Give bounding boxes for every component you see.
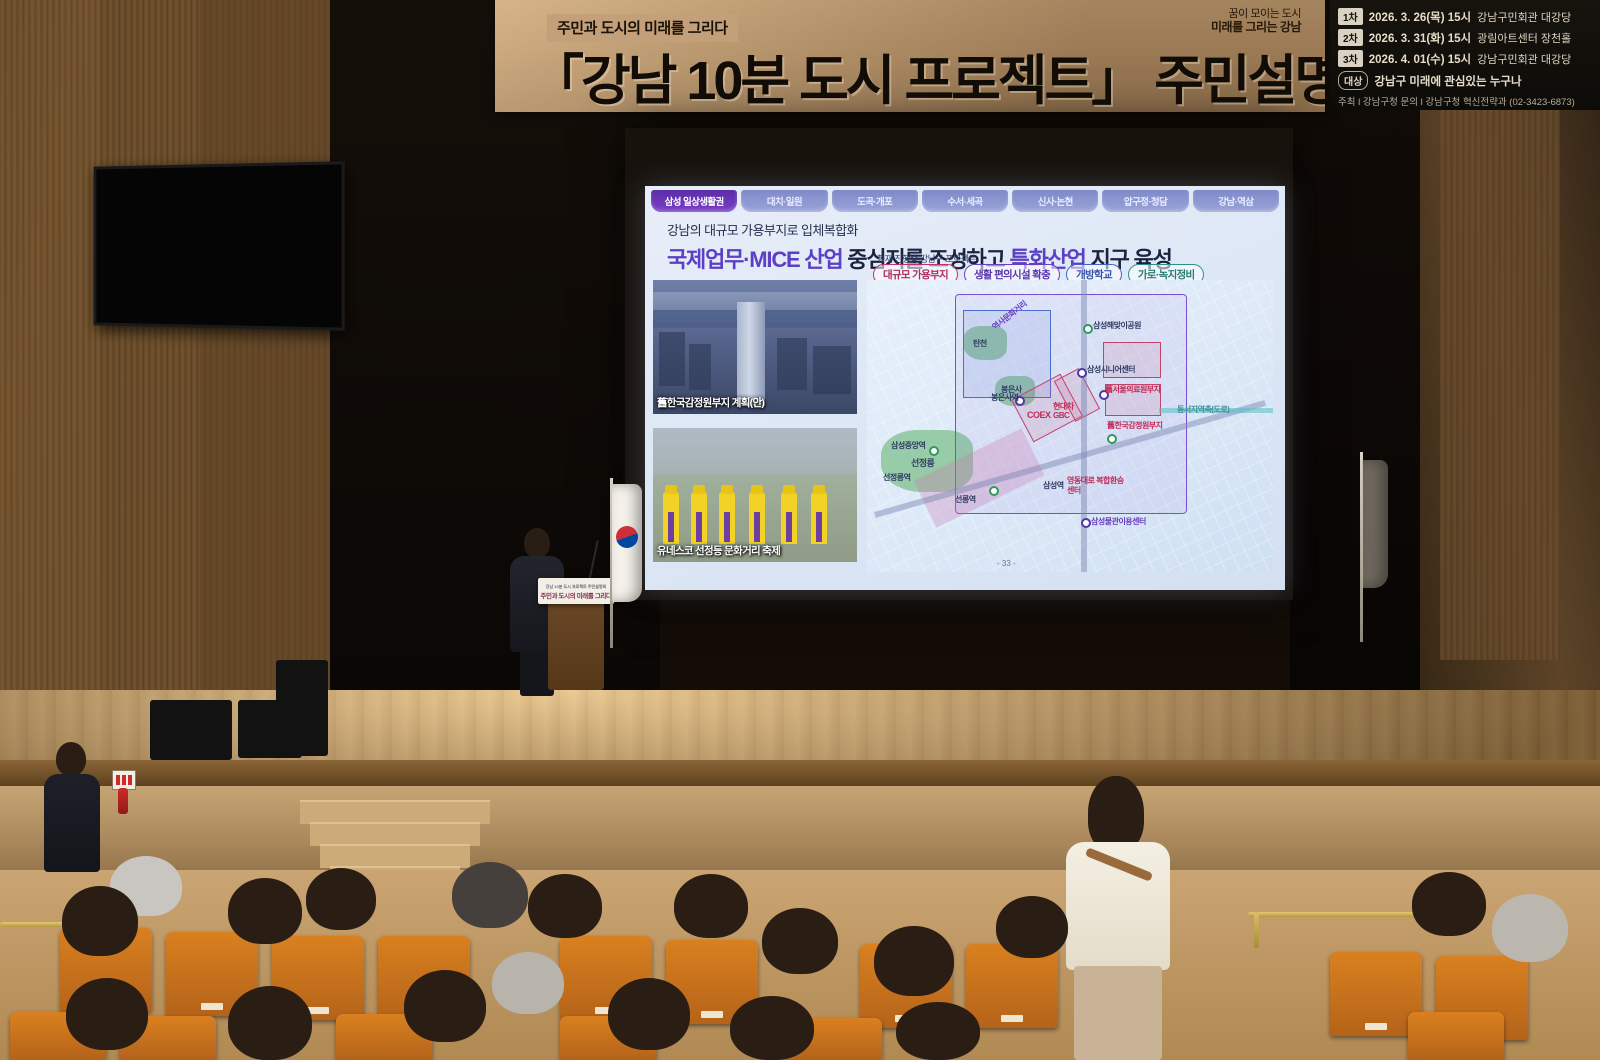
photo-culture-street-festival: 유네스코 선정등 문화거리 축제 — [653, 428, 857, 562]
banner-title: 「강남 10분 도시 프로젝트」 주민설명회 — [530, 36, 1325, 112]
map-label-medical-center-site: 舊서울의료원부지 — [1105, 384, 1161, 395]
audience-head — [1412, 872, 1486, 936]
slide-kicker: 강남의 대규모 가용부지로 입체복합화 — [667, 220, 1285, 239]
flag-cloth — [1362, 460, 1388, 588]
map-label-seolleung-station: 선릉역 — [955, 494, 976, 505]
map-label-gbc: 현대차 GBC — [1053, 402, 1079, 420]
audience-row: 대상 강남구 미래에 관심있는 누구나 — [1338, 71, 1600, 90]
logo-line-2: 미래를 그리는 강남 — [1211, 21, 1301, 35]
schedule-tag: 1차 — [1338, 8, 1363, 25]
seat-number-tag — [1365, 1023, 1387, 1030]
schedule-date: 2026. 3. 26(목) 15시 — [1369, 9, 1471, 25]
photo-caption: 유네스코 선정등 문화거리 축제 — [657, 543, 780, 558]
head — [56, 742, 86, 776]
seat-number-tag — [701, 1011, 723, 1018]
tab-suseo-segok[interactable]: 수서·세곡 — [922, 190, 1008, 212]
map-dot — [989, 486, 999, 496]
map-dot — [1077, 368, 1087, 378]
stage-speaker — [276, 660, 328, 756]
audience-head — [404, 970, 486, 1042]
audience-head — [228, 986, 312, 1060]
audience-head — [996, 896, 1068, 958]
slide-tab-bar: 삼성 일상생활권 대치·일원 도곡·개포 수서·세곡 신사·논현 압구정·청담 … — [645, 186, 1285, 212]
flag-cloth — [612, 484, 642, 602]
head — [1088, 776, 1144, 852]
map-label-yeongdong-hub: 영동대로 복합환승센터 — [1067, 476, 1125, 495]
schedule-place: 강남구민회관 대강당 — [1477, 51, 1571, 67]
standing-staff-member — [44, 742, 100, 872]
map-dot — [929, 446, 939, 456]
seat-number-tag — [1001, 1015, 1023, 1022]
audience-head — [674, 874, 748, 938]
schedule-row: 1차 2026. 3. 26(목) 15시 강남구민회관 대강당 — [1338, 8, 1600, 25]
photo-hanguk-appraisal-site: 舊한국감정원부지 계획(안) — [653, 280, 857, 414]
audience-head — [730, 996, 814, 1060]
audience-head — [492, 952, 564, 1014]
tab-apgujeong-cheongdam[interactable]: 압구정·청담 — [1102, 190, 1188, 212]
map-label-haematjip-park: 삼성해맞이공원 — [1093, 320, 1141, 331]
district-flag — [1346, 452, 1386, 642]
map-label-tancheon: 탄천 — [973, 338, 987, 349]
schedule-place: 광림아트센터 장천홀 — [1477, 30, 1571, 46]
city-block — [777, 338, 807, 390]
audience-tag: 대상 — [1338, 71, 1368, 90]
audience-head — [62, 886, 138, 956]
fire-extinguisher — [118, 788, 128, 814]
map-label-coex: COEX — [1027, 410, 1051, 420]
map-dot — [1083, 324, 1093, 334]
schedule-row: 3차 2026. 4. 01(수) 15시 강남구민회관 대강당 — [1338, 50, 1600, 67]
parade-figure — [749, 492, 765, 544]
step — [300, 800, 490, 824]
seat-number-tag — [201, 1003, 223, 1010]
map-dot — [1107, 434, 1117, 444]
map-label-samsung-jungang-station: 삼성중앙역 — [891, 440, 925, 451]
audience-head — [1492, 894, 1568, 962]
fire-equipment-sign — [112, 770, 136, 790]
korean-flag — [596, 478, 636, 648]
schedule-row: 2차 2026. 3. 31(화) 15시 광림아트센터 장천홀 — [1338, 29, 1600, 46]
stage-light-unit — [150, 700, 232, 760]
schedule-footer: 주최 l 강남구청 문의 l 강남구청 혁신전략과 (02-3423-6873) — [1338, 94, 1600, 108]
map-label-samsung-station: 삼성역 — [1043, 480, 1064, 491]
torso — [44, 774, 100, 872]
parade-figure — [663, 492, 679, 544]
parade-figure — [811, 492, 827, 544]
slide-title-highlight-1: 국제업무·MICE 산업 — [667, 247, 842, 272]
step — [310, 822, 480, 846]
audience-head — [528, 874, 602, 938]
schedule-date: 2026. 4. 01(수) 15시 — [1369, 51, 1471, 67]
audience-head — [874, 926, 954, 996]
photo-caption: 舊한국감정원부지 계획(안) — [657, 395, 764, 410]
map-label-bongeunsa-station: 봉은사역 — [991, 392, 1018, 403]
tab-sinsa-nonhyeon[interactable]: 신사·논현 — [1012, 190, 1098, 212]
audience-head — [762, 908, 838, 974]
audience-head — [452, 862, 528, 928]
map-label-samsung-center: 삼성물관이용센터 — [1091, 516, 1146, 527]
slide-page-number: - 33 - — [997, 559, 1016, 568]
tab-samsung[interactable]: 삼성 일상생활권 — [651, 190, 737, 212]
schedule-tag: 2차 — [1338, 29, 1363, 46]
handrail-post — [1254, 912, 1259, 948]
stage-edge — [0, 760, 1600, 786]
audience-head — [896, 1002, 980, 1060]
tower-rendering — [737, 302, 765, 406]
audience-head — [66, 978, 148, 1050]
tab-gangnam-yeoksam[interactable]: 강남·역삼 — [1193, 190, 1279, 212]
gangnam-district-map: 삼성해맞이공원 삼성시니어센터 舊서울의료원부지 舊한국감정원부지 영동대로 복… — [867, 280, 1273, 572]
parade-figure — [781, 492, 797, 544]
map-dot — [1081, 518, 1091, 528]
tab-daechi-ilwon[interactable]: 대치·일원 — [741, 190, 827, 212]
map-label-seonjeongneung: 선정릉 — [911, 456, 934, 469]
tab-dogok-gaepo[interactable]: 도곡·개포 — [832, 190, 918, 212]
map-label-seonjeongneung-station: 선정릉역 — [883, 472, 910, 483]
standing-attendee — [1060, 776, 1172, 1060]
auditorium-photo: 주민과 도시의 미래를 그리다 「강남 10분 도시 프로젝트」 주민설명회 꿈… — [0, 0, 1600, 1060]
audience-text: 강남구 미래에 관심있는 누구나 — [1374, 73, 1521, 89]
presenter-head — [524, 528, 550, 558]
schedule-place: 강남구민회관 대강당 — [1477, 9, 1571, 25]
slide-body: 舊한국감정원부지 계획(안) 유네스코 선정등 문화거리 축제 현재 진행중 강… — [645, 280, 1285, 572]
logo-line-1: 꿈이 모이는 도시 — [1211, 8, 1301, 21]
audience-head — [608, 978, 690, 1050]
audience-head — [306, 868, 376, 930]
stage-apron — [0, 786, 1600, 882]
right-wood-paneling — [1440, 100, 1560, 660]
schedule-tag: 3차 — [1338, 50, 1363, 67]
city-block — [659, 332, 685, 386]
schedule-date: 2026. 3. 31(화) 15시 — [1369, 30, 1471, 46]
gangnam-logo: 꿈이 모이는 도시 미래를 그리는 강남 — [1211, 8, 1301, 34]
map-label-east-west-axis: 동서지역축(도로) — [1177, 404, 1229, 415]
city-block — [813, 346, 851, 394]
map-label-appraisal-board-site: 舊한국감정원부지 — [1107, 420, 1163, 431]
schedule-panel: 1차 2026. 3. 26(목) 15시 강남구민회관 대강당 2차 2026… — [1330, 0, 1600, 110]
wall-monitor — [94, 161, 345, 331]
street-buildings — [653, 428, 857, 474]
map-label-senior-center: 삼성시니어센터 — [1087, 364, 1135, 375]
seat[interactable] — [1408, 1012, 1504, 1060]
taeguk-symbol — [616, 526, 638, 548]
presentation-slide: 삼성 일상생활권 대치·일원 도곡·개포 수서·세곡 신사·논현 압구정·청담 … — [645, 186, 1285, 590]
step — [320, 844, 470, 868]
parade-figure — [719, 492, 735, 544]
city-block — [689, 344, 711, 390]
audience-head — [228, 878, 302, 944]
event-banner: 주민과 도시의 미래를 그리다 「강남 10분 도시 프로젝트」 주민설명회 꿈… — [495, 0, 1325, 112]
skirt — [1074, 966, 1162, 1060]
parade-figure — [691, 492, 707, 544]
